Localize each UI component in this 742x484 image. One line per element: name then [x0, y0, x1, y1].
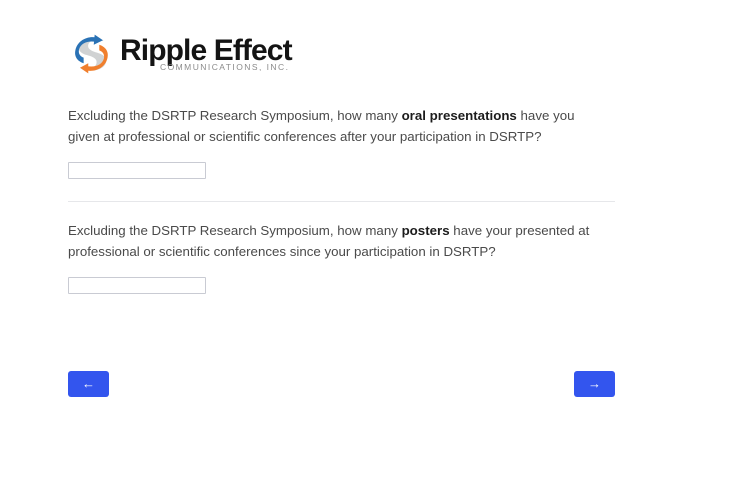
- question-text-before: Excluding the DSRTP Research Symposium, …: [68, 108, 402, 123]
- question-text: Excluding the DSRTP Research Symposium, …: [68, 106, 598, 147]
- question-divider: [68, 201, 615, 202]
- brand-subtitle: COMMUNICATIONS, INC.: [160, 63, 289, 72]
- oral-presentations-input[interactable]: [68, 162, 206, 179]
- previous-page-button[interactable]: ←: [68, 371, 109, 397]
- brand-logo: Ripple Effect COMMUNICATIONS, INC.: [68, 28, 120, 80]
- ripple-swirl-icon: [68, 31, 114, 77]
- navigation-bar: ← →: [68, 371, 615, 397]
- question-emphasis: oral presentations: [402, 108, 517, 123]
- next-page-button[interactable]: →: [574, 371, 615, 397]
- posters-input[interactable]: [68, 277, 206, 294]
- survey-form: Excluding the DSRTP Research Symposium, …: [68, 106, 615, 294]
- question-text: Excluding the DSRTP Research Symposium, …: [68, 221, 598, 262]
- question-oral-presentations: Excluding the DSRTP Research Symposium, …: [68, 106, 615, 179]
- survey-page: Ripple Effect COMMUNICATIONS, INC. Exclu…: [0, 0, 742, 484]
- question-posters: Excluding the DSRTP Research Symposium, …: [68, 221, 615, 294]
- question-emphasis: posters: [402, 223, 450, 238]
- question-text-before: Excluding the DSRTP Research Symposium, …: [68, 223, 402, 238]
